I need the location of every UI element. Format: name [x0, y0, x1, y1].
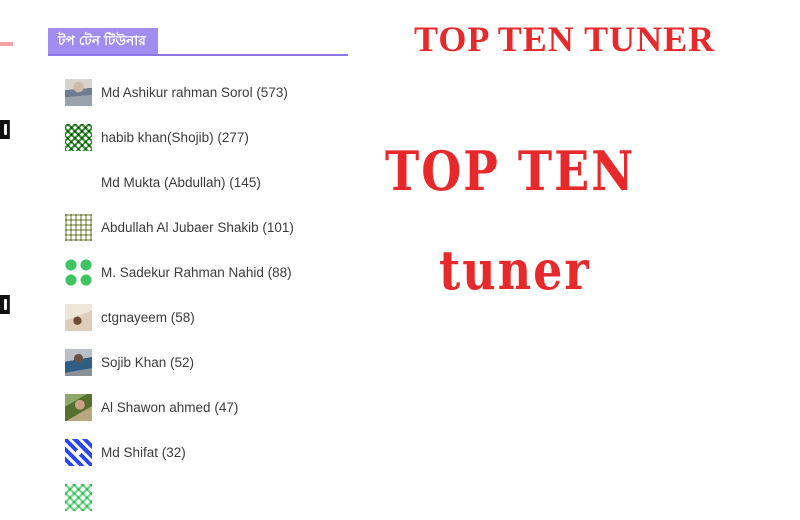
decorative-headline-line-2: tuner [439, 238, 591, 302]
list-item-label[interactable]: Md Shifat (32) [101, 445, 186, 460]
list-item[interactable]: Md Shifat (32) [48, 430, 348, 475]
list-item-label[interactable]: Al Shawon ahmed (47) [101, 400, 238, 415]
list-item[interactable]: Abdullah Al Jubaer Shakib (101) [48, 205, 348, 250]
page-title: TOP TEN TUNER [414, 18, 715, 60]
avatar [65, 124, 92, 151]
list-item[interactable] [48, 475, 348, 520]
list-item[interactable]: ctgnayeem (58) [48, 295, 348, 340]
avatar [65, 169, 92, 196]
list-item[interactable]: M. Sadekur Rahman Nahid (88) [48, 250, 348, 295]
widget-title: টপ টেন টিউনার [48, 28, 158, 54]
list-item-label[interactable]: Sojib Khan (52) [101, 355, 194, 370]
list-item-label[interactable]: Abdullah Al Jubaer Shakib (101) [101, 220, 294, 235]
top-ten-tuner-widget: টপ টেন টিউনার Md Ashikur rahman Sorol (5… [48, 28, 348, 520]
list-item[interactable]: Al Shawon ahmed (47) [48, 385, 348, 430]
left-edge-cropped-widget-1 [0, 120, 10, 139]
list-item-label[interactable]: habib khan(Shojib) (277) [101, 130, 249, 145]
avatar [65, 394, 92, 421]
left-edge-cropped-widget-2 [0, 295, 10, 314]
avatar [65, 259, 92, 286]
list-item-label[interactable]: M. Sadekur Rahman Nahid (88) [101, 265, 292, 280]
left-edge-dash [0, 42, 13, 46]
avatar [65, 79, 92, 106]
list-item-label[interactable]: ctgnayeem (58) [101, 310, 195, 325]
list-item[interactable]: Sojib Khan (52) [48, 340, 348, 385]
avatar [65, 349, 92, 376]
avatar [65, 439, 92, 466]
avatar [65, 484, 92, 511]
list-item-label[interactable]: Md Mukta (Abdullah) (145) [101, 175, 261, 190]
tuner-list: Md Ashikur rahman Sorol (573) habib khan… [48, 70, 348, 520]
decorative-headline-line-1: TOP TEN [385, 139, 635, 203]
list-item-label[interactable]: Md Ashikur rahman Sorol (573) [101, 85, 288, 100]
widget-header: টপ টেন টিউনার [48, 28, 348, 56]
avatar [65, 214, 92, 241]
list-item[interactable]: Md Mukta (Abdullah) (145) [48, 160, 348, 205]
list-item[interactable]: habib khan(Shojib) (277) [48, 115, 348, 160]
list-item[interactable]: Md Ashikur rahman Sorol (573) [48, 70, 348, 115]
avatar [65, 304, 92, 331]
